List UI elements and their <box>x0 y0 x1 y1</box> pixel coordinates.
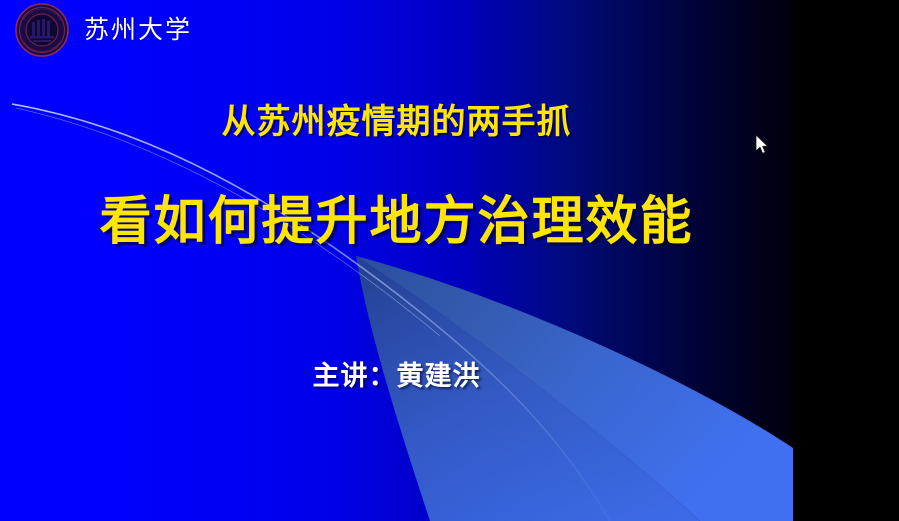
presentation-slide[interactable]: 苏州大学 从苏州疫情期的两手抓 看如何提升地方治理效能 主讲：黄建洪 <box>0 0 793 521</box>
slide-title-line-1: 从苏州疫情期的两手抓 <box>0 104 793 141</box>
hairline-curve-secondary <box>16 108 440 336</box>
swoosh-shape <box>356 256 793 521</box>
slide-background-art <box>0 0 793 521</box>
letterbox-right-bar <box>793 0 899 521</box>
slide-title-line-2: 看如何提升地方治理效能 <box>0 194 793 251</box>
slide-title-block: 从苏州疫情期的两手抓 看如何提升地方治理效能 主讲：黄建洪 <box>0 0 793 521</box>
slide-header: 苏州大学 <box>14 2 192 58</box>
hairline-curve <box>12 104 610 521</box>
slide-presenter-label: 主讲：黄建洪 <box>0 362 793 392</box>
university-name-label: 苏州大学 <box>84 18 192 43</box>
suzhou-university-seal-icon <box>14 2 70 58</box>
slideshow-screen: 苏州大学 从苏州疫情期的两手抓 看如何提升地方治理效能 主讲：黄建洪 <box>0 0 899 521</box>
